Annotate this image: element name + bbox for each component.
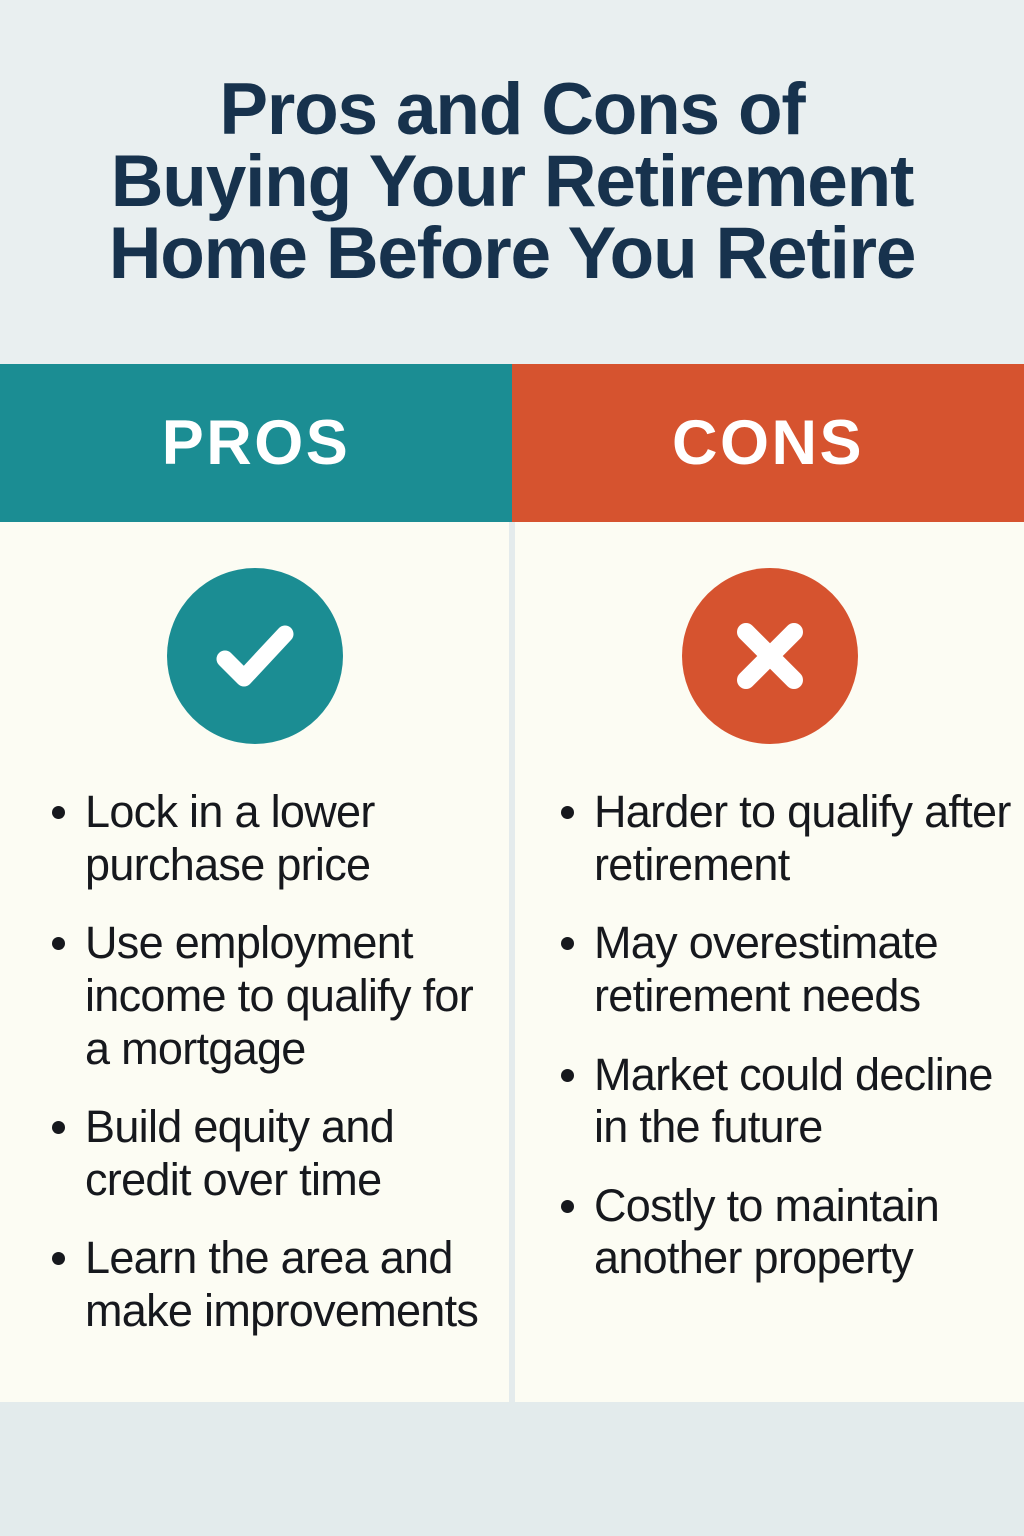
cons-list: Harder to qualify after retirement May o…	[515, 786, 1024, 1285]
x-circle-icon	[682, 568, 858, 744]
pros-item-text: Lock in a lower purchase price	[85, 786, 503, 891]
pros-header-bar: PROS	[0, 364, 512, 522]
cons-header-label: CONS	[672, 412, 864, 475]
cons-icon-wrap	[515, 568, 1024, 744]
bullet-icon	[561, 937, 574, 950]
cons-panel: Harder to qualify after retirement May o…	[515, 522, 1024, 1402]
bottom-strip	[0, 1402, 1024, 1536]
bullet-icon	[52, 1121, 65, 1134]
infographic-page: Pros and Cons of Buying Your Retirement …	[0, 0, 1024, 1536]
title-line-1: Pros and Cons of	[109, 74, 916, 146]
cons-item-text: Market could decline in the future	[594, 1049, 1018, 1154]
bullet-icon	[561, 806, 574, 819]
check-circle-icon	[167, 568, 343, 744]
list-item: Lock in a lower purchase price	[52, 786, 503, 891]
title-line-3: Home Before You Retire	[109, 218, 916, 290]
list-item: Costly to maintain another property	[561, 1180, 1018, 1285]
list-item: Harder to qualify after retirement	[561, 786, 1018, 891]
pros-item-text: Learn the area and make improvements	[85, 1232, 503, 1337]
title-line-2: Buying Your Retirement	[109, 146, 916, 218]
cons-item-text: Harder to qualify after retirement	[594, 786, 1018, 891]
list-item: Build equity and credit over time	[52, 1101, 503, 1206]
pros-icon-wrap	[0, 568, 509, 744]
pros-item-text: Use employment income to qualify for a m…	[85, 917, 503, 1075]
cons-item-text: May overestimate retirement needs	[594, 917, 1018, 1022]
pros-header-label: PROS	[162, 412, 351, 475]
list-item: Market could decline in the future	[561, 1049, 1018, 1154]
list-item: Use employment income to qualify for a m…	[52, 917, 503, 1075]
cons-item-text: Costly to maintain another property	[594, 1180, 1018, 1285]
pros-list: Lock in a lower purchase price Use emplo…	[0, 786, 509, 1338]
bullet-icon	[561, 1200, 574, 1213]
bullet-icon	[52, 1252, 65, 1265]
cons-header-bar: CONS	[512, 364, 1024, 522]
title-area: Pros and Cons of Buying Your Retirement …	[0, 0, 1024, 364]
bullet-icon	[52, 806, 65, 819]
page-title: Pros and Cons of Buying Your Retirement …	[109, 74, 916, 291]
pros-panel: Lock in a lower purchase price Use emplo…	[0, 522, 509, 1402]
list-item: Learn the area and make improvements	[52, 1232, 503, 1337]
pros-item-text: Build equity and credit over time	[85, 1101, 503, 1206]
bullet-icon	[561, 1069, 574, 1082]
list-item: May overestimate retirement needs	[561, 917, 1018, 1022]
bullet-icon	[52, 937, 65, 950]
